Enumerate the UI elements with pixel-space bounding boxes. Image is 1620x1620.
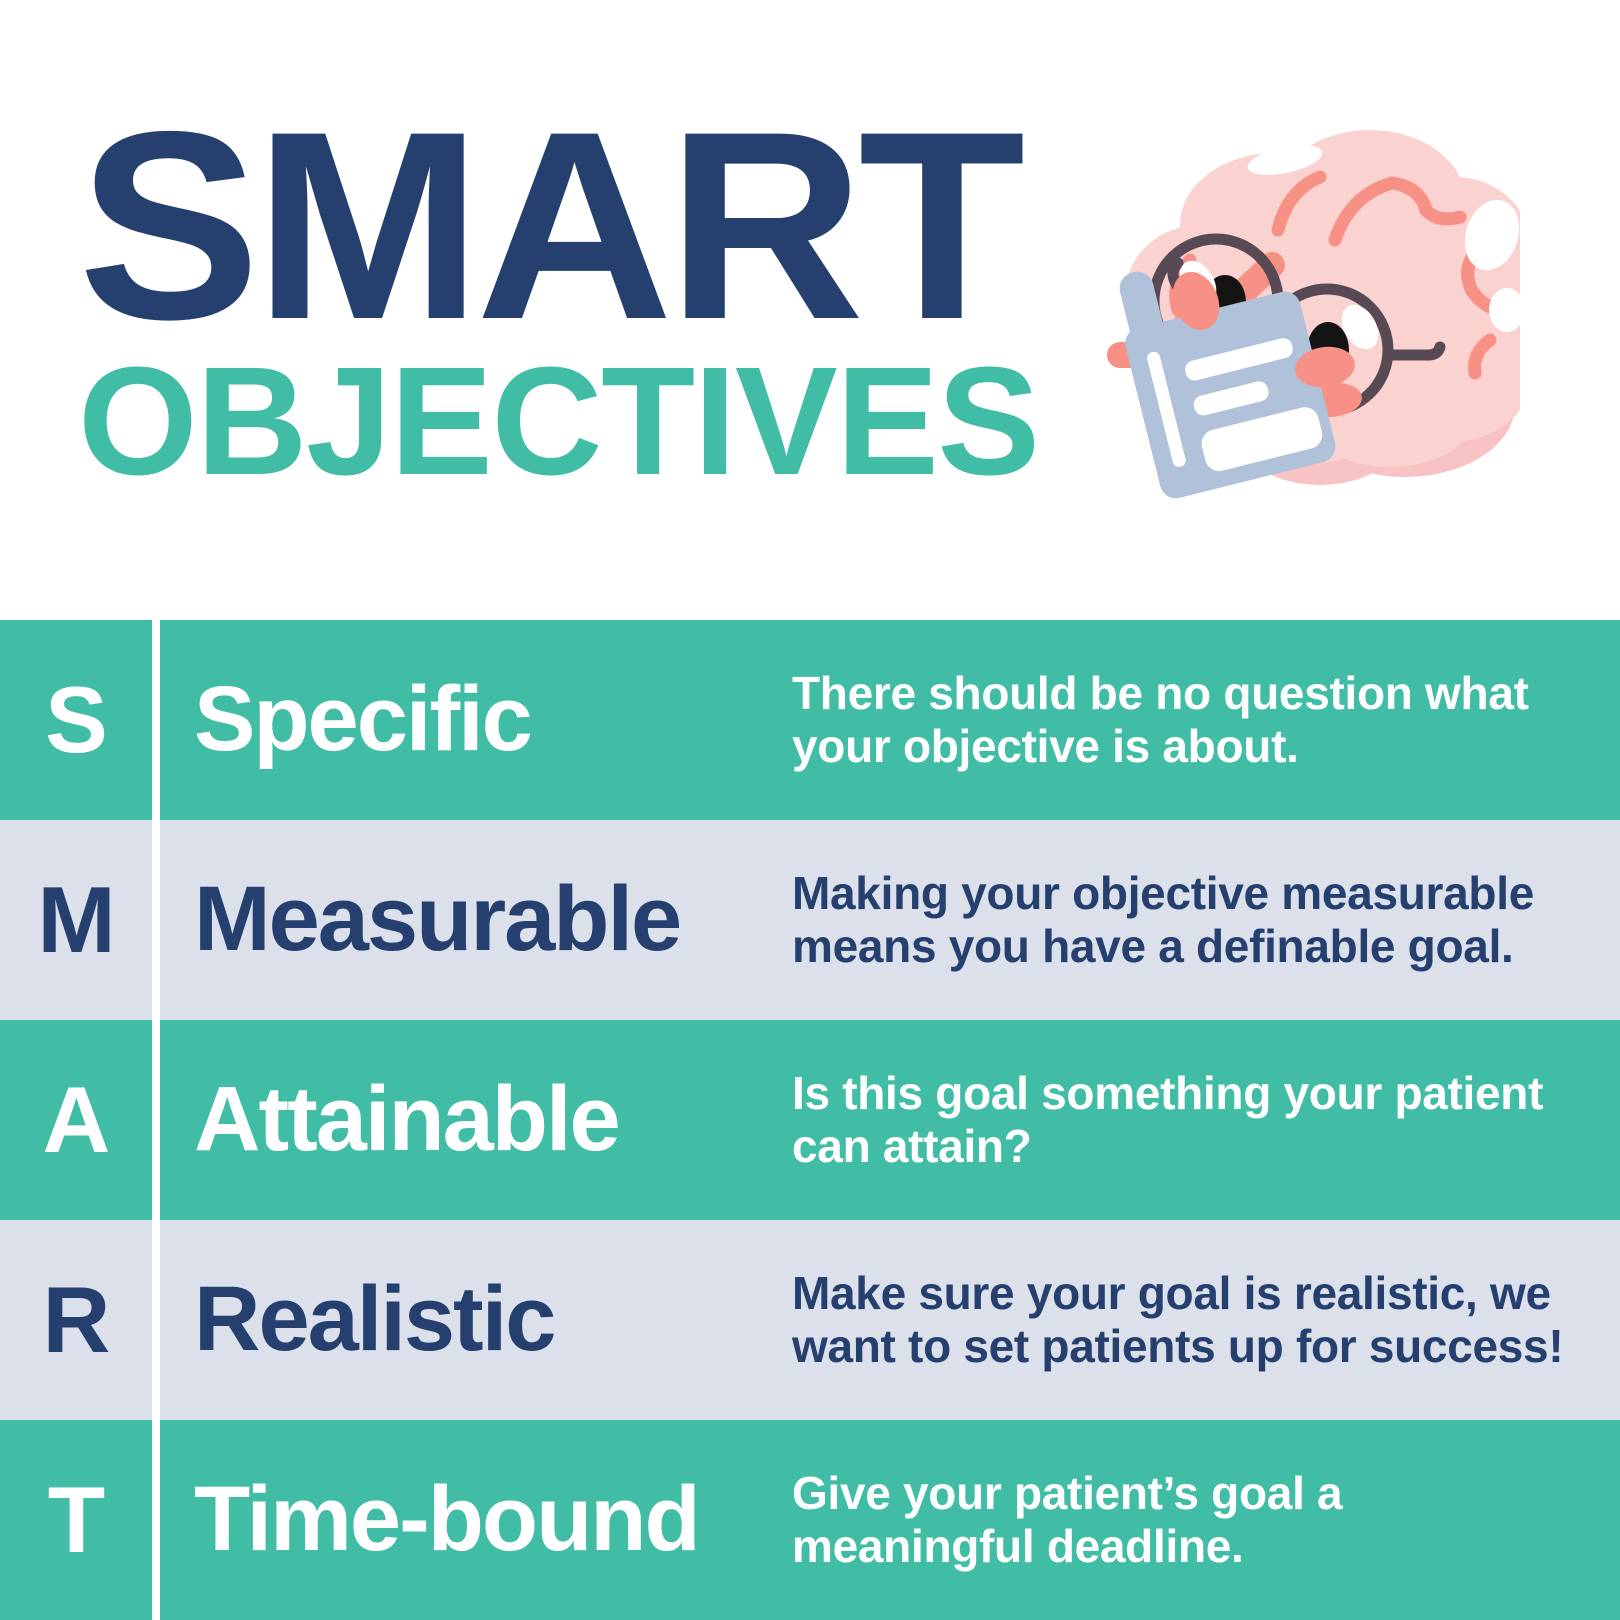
poster-header: SMART OBJECTIVES [0,0,1620,620]
row-divider [152,620,160,820]
row-divider [152,1020,160,1220]
brain-mascot-illustration [1020,105,1520,500]
row-description: Give your patient’s goal a meaningful de… [760,1467,1620,1574]
row-letter: A [0,1073,152,1167]
table-row: S Specific There should be no question w… [0,620,1620,820]
row-divider [152,1220,160,1420]
row-description: Is this goal something your patient can … [760,1067,1620,1174]
row-description: There should be no question what your ob… [760,667,1620,774]
row-letter: M [0,873,152,967]
page-title-secondary: OBJECTIVES [78,344,1038,498]
title-block: SMART OBJECTIVES [78,118,1038,498]
row-description: Making your objective measurable means y… [760,867,1620,974]
page-title-primary: SMART [78,118,1057,332]
row-word: Realistic [160,1273,760,1367]
row-description: Make sure your goal is realistic, we wan… [760,1267,1620,1374]
table-row: A Attainable Is this goal something your… [0,1020,1620,1220]
row-letter: T [0,1473,152,1567]
table-row: M Measurable Making your objective measu… [0,820,1620,1020]
row-word: Measurable [160,873,760,967]
row-word: Attainable [160,1073,760,1167]
table-row: R Realistic Make sure your goal is reali… [0,1220,1620,1420]
row-word: Specific [160,673,760,767]
smart-criteria-table: S Specific There should be no question w… [0,620,1620,1620]
row-letter: R [0,1273,152,1367]
row-divider [152,820,160,1020]
row-divider [152,1420,160,1620]
table-row: T Time-bound Give your patient’s goal a … [0,1420,1620,1620]
smart-objectives-poster: SMART OBJECTIVES [0,0,1620,1620]
row-word: Time-bound [160,1473,760,1567]
row-letter: S [0,673,152,767]
